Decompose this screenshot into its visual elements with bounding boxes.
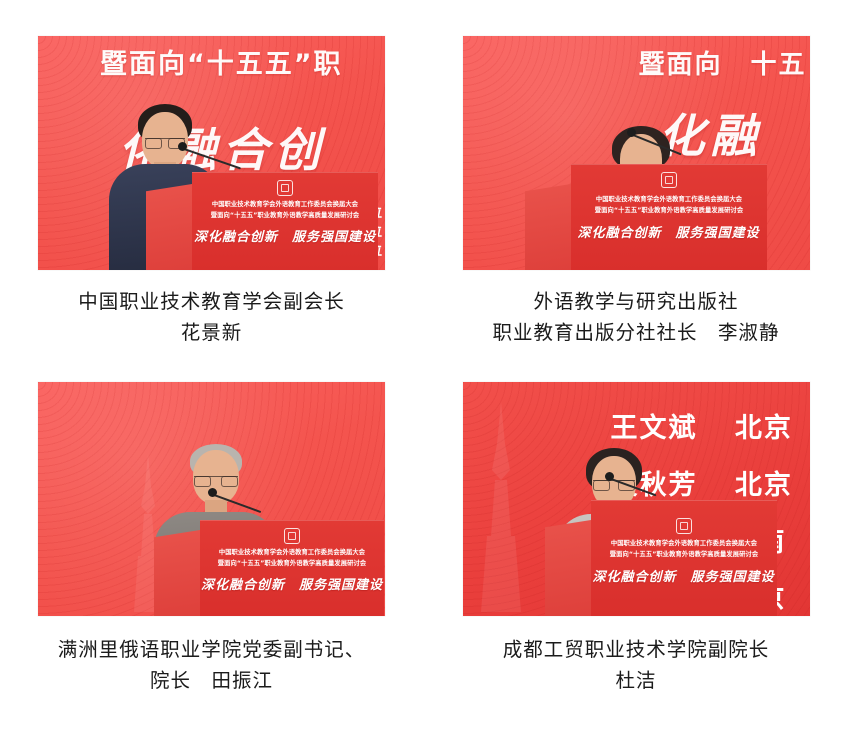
podium-slogan-1: 深化融合创新 服务强国建设: [192, 226, 378, 245]
podium-banner-line1-1: 中国职业技术教育学会外语教育工作委员会换届大会: [194, 199, 376, 208]
caption-4: 成都工贸职业技术学院副院长 杜洁: [423, 634, 849, 696]
podium-banner-line1-3: 中国职业技术教育学会外语教育工作委员会换届大会: [202, 547, 382, 556]
podium-slogan-2: 深化融合创新 服务强国建设: [571, 222, 767, 241]
photo-grid: 暨面向“十五五”职 化融合创 办单位 办单位 办单位: [0, 0, 849, 736]
caption-2-line2: 职业教育出版分社社长 李淑静: [423, 317, 849, 348]
podium-slogan-3: 深化融合创新 服务强国建设: [200, 574, 384, 593]
podium-side-1: [146, 184, 192, 270]
podium-3: 中国职业技术教育学会外语教育工作委员会换届大会 暨面向“十五五”职业教育外语教学…: [200, 520, 384, 616]
society-emblem-icon: [277, 180, 293, 196]
society-emblem-icon: [676, 518, 692, 534]
photo-4[interactable]: 王文斌 北京 文秋芳 北京 胡南 北京: [463, 382, 810, 616]
caption-1-line1: 中国职业技术教育学会副会长: [0, 286, 423, 317]
podium-2: 中国职业技术教育学会外语教育工作委员会换届大会 暨面向“十五五”职业教育外语教学…: [571, 164, 767, 270]
caption-2-line1: 外语教学与研究出版社: [423, 286, 849, 317]
podium-side-3: [154, 530, 200, 616]
microphone-head-4: [605, 472, 614, 481]
podium-banner-line1-4: 中国职业技术教育学会外语教育工作委员会换届大会: [592, 538, 774, 547]
microphone-head-3: [208, 488, 217, 497]
speaker-glasses-3: [194, 476, 238, 487]
podium-side-4: [545, 520, 591, 616]
caption-1-line2: 花景新: [0, 317, 423, 348]
caption-1: 中国职业技术教育学会副会长 花景新: [0, 286, 423, 348]
caption-3-line1: 满洲里俄语职业学院党委副书记、: [0, 634, 423, 665]
society-emblem-icon: [661, 172, 677, 188]
caption-4-line1: 成都工贸职业技术学院副院长: [423, 634, 849, 665]
microphone-head-2: [627, 128, 636, 137]
podium-4: 中国职业技术教育学会外语教育工作委员会换届大会 暨面向“十五五”职业教育外语教学…: [591, 500, 777, 616]
podium-banner-line2-1: 暨面向“十五五”职业教育外语教学高质量发展研讨会: [194, 210, 376, 219]
backdrop-headline-2: 暨面向 十五: [639, 44, 807, 81]
society-emblem-icon: [284, 528, 300, 544]
caption-2: 外语教学与研究出版社 职业教育出版分社社长 李淑静: [423, 286, 849, 348]
podium-slogan-4: 深化融合创新 服务强国建设: [591, 566, 777, 585]
photo-1[interactable]: 暨面向“十五五”职 化融合创 办单位 办单位 办单位: [38, 36, 385, 270]
podium-banner-line2-4: 暨面向“十五五”职业教育外语教学高质量发展研讨会: [592, 549, 774, 558]
speaker-photo-page: 暨面向“十五五”职 化融合创 办单位 办单位 办单位: [0, 0, 849, 736]
photo-cell-2: 暨面向 十五 化融 中国职业技术教育学会外语教育工作: [423, 0, 849, 348]
photo-cell-1: 暨面向“十五五”职 化融合创 办单位 办单位 办单位: [0, 0, 423, 348]
photo-2[interactable]: 暨面向 十五 化融 中国职业技术教育学会外语教育工作: [463, 36, 810, 270]
caption-3: 满洲里俄语职业学院党委副书记、 院长 田振江: [0, 634, 423, 696]
microphone-head-1: [178, 142, 187, 151]
org-1: 北京: [735, 413, 793, 444]
caption-3-line2: 院长 田振江: [0, 665, 423, 696]
photo-cell-3: 中国职业技术教育学会外语教育工作委员会换届大会 暨面向“十五五”职业教育外语教学…: [0, 348, 423, 696]
backdrop-headline-1: 暨面向“十五五”职: [100, 42, 343, 81]
caption-4-line2: 杜洁: [423, 665, 849, 696]
tv-tower-icon: [469, 400, 533, 616]
podium-banner-line2-2: 暨面向“十五五”职业教育外语教学高质量发展研讨会: [572, 205, 764, 214]
podium-1: 中国职业技术教育学会外语教育工作委员会换届大会 暨面向“十五五”职业教育外语教学…: [192, 172, 378, 270]
photo-3[interactable]: 中国职业技术教育学会外语教育工作委员会换届大会 暨面向“十五五”职业教育外语教学…: [38, 382, 385, 616]
podium-banner-line1-2: 中国职业技术教育学会外语教育工作委员会换届大会: [572, 194, 764, 203]
org-2: 北京: [735, 470, 793, 501]
podium-banner-line2-3: 暨面向“十五五”职业教育外语教学高质量发展研讨会: [202, 558, 382, 567]
podium-side-2: [525, 184, 571, 270]
photo-cell-4: 王文斌 北京 文秋芳 北京 胡南 北京: [423, 348, 849, 696]
